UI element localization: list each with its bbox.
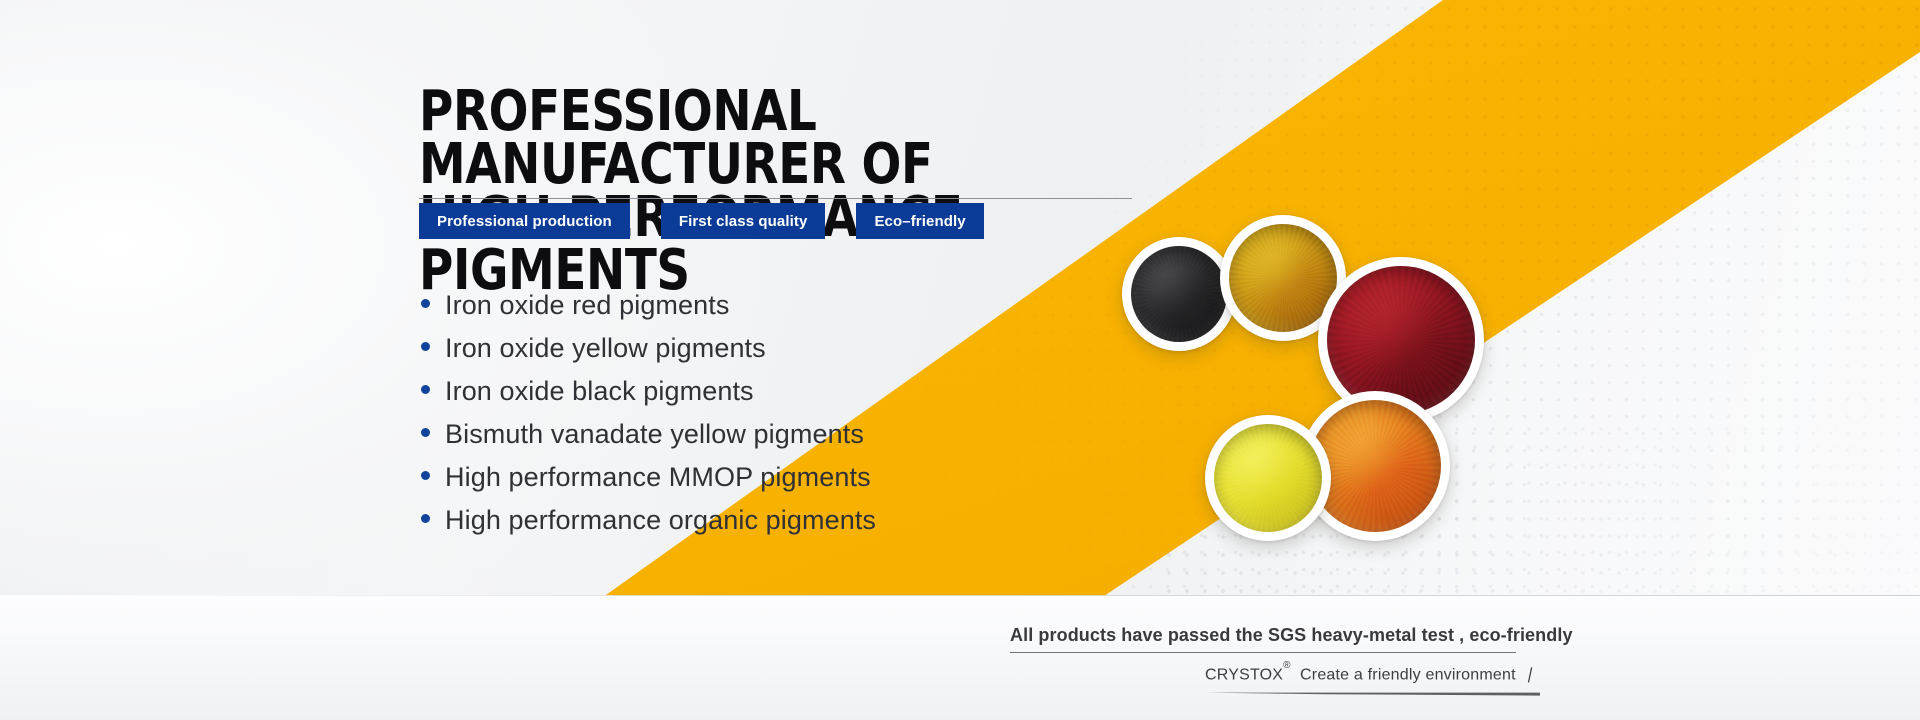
headline-underline-rule xyxy=(419,198,1132,199)
list-item: Iron oxide yellow pigments xyxy=(421,333,876,376)
brand-tagline: Create a friendly environment xyxy=(1300,666,1516,683)
brand-tagline-wedge-rule xyxy=(1205,692,1540,696)
banner-stage: PROFESSIONAL MANUFACTURER OF HIGH PERFOR… xyxy=(0,0,1920,720)
badge-first-class-quality[interactable]: First class quality xyxy=(661,203,826,239)
feature-label: High performance MMOP pigments xyxy=(445,462,871,493)
bullet-dot-icon xyxy=(421,299,430,308)
feature-label: Bismuth vanadate yellow pigments xyxy=(445,419,864,450)
brand-tagline-block: CRYSTOX® Create a friendly environment | xyxy=(1205,665,1533,684)
registered-trademark-icon: ® xyxy=(1283,660,1291,671)
list-item: High performance MMOP pigments xyxy=(421,462,876,505)
bullet-dot-icon xyxy=(421,471,430,480)
bullet-dot-icon xyxy=(421,428,430,437)
bullet-dot-icon xyxy=(421,385,430,394)
sgs-claim-text: All products have passed the SGS heavy-m… xyxy=(1010,625,1573,646)
pigment-powder-black xyxy=(1131,246,1227,342)
list-item: High performance organic pigments xyxy=(421,505,876,548)
feature-label: Iron oxide black pigments xyxy=(445,376,754,407)
pigment-powder-yellow xyxy=(1214,424,1322,532)
badge-eco-friendly[interactable]: Eco–friendly xyxy=(856,203,983,239)
bullet-dot-icon xyxy=(421,514,430,523)
feature-label: Iron oxide red pigments xyxy=(445,290,729,321)
badge-professional-production[interactable]: Professional production xyxy=(419,203,630,239)
sgs-claim-underline xyxy=(1010,652,1516,653)
pigment-powder-red xyxy=(1327,266,1475,414)
feature-label: Iron oxide yellow pigments xyxy=(445,333,766,364)
pigment-sample-cluster xyxy=(1100,215,1500,605)
bullet-dot-icon xyxy=(421,342,430,351)
brand-name: CRYSTOX xyxy=(1205,666,1283,683)
pigment-dish-bismuth-vanadate-yellow xyxy=(1205,415,1331,541)
list-item: Iron oxide black pigments xyxy=(421,376,876,419)
badge-row: Professional production First class qual… xyxy=(419,203,984,239)
product-feature-list: Iron oxide red pigments Iron oxide yello… xyxy=(421,290,876,548)
list-item: Iron oxide red pigments xyxy=(421,290,876,333)
banner-content: PROFESSIONAL MANUFACTURER OF HIGH PERFOR… xyxy=(0,0,1920,720)
pigment-dish-iron-oxide-black xyxy=(1122,237,1236,351)
brand-tagline-accent: | xyxy=(1526,666,1534,684)
list-item: Bismuth vanadate yellow pigments xyxy=(421,419,876,462)
feature-label: High performance organic pigments xyxy=(445,505,876,536)
